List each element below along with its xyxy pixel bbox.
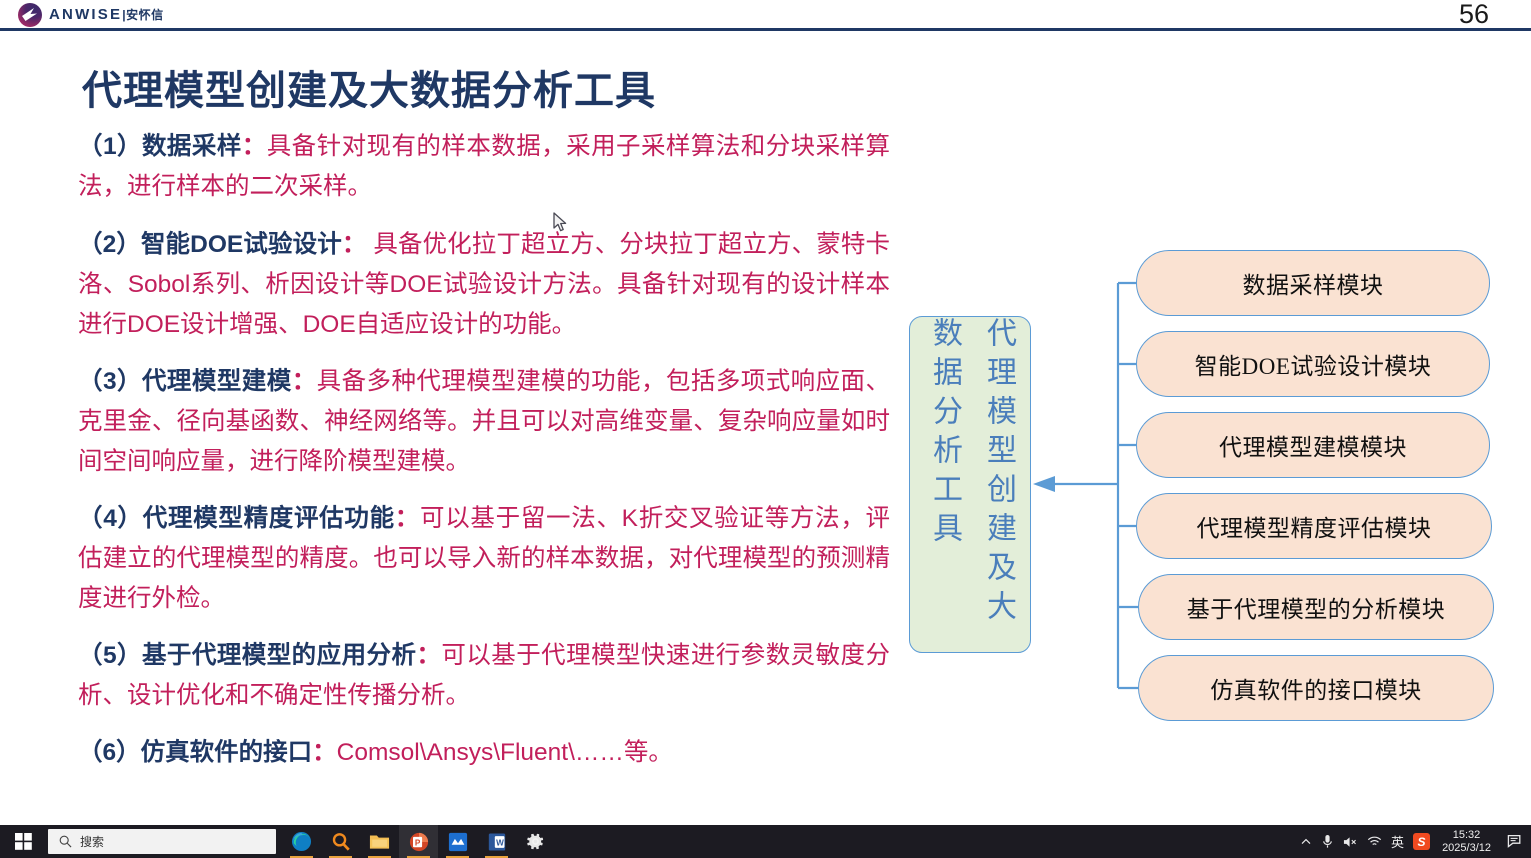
svg-text:W: W — [496, 838, 504, 847]
anwise-bird-logo-icon — [18, 3, 42, 27]
slide-screen: ANWISE|安怀信 56 代理模型创建及大数据分析工具 （1）数据采样：具备针… — [0, 0, 1531, 858]
slide-body: 代理模型创建及大数据分析工具 （1）数据采样：具备针对现有的样本数据，采用子采样… — [0, 31, 1531, 825]
paragraph-item: （6）仿真软件的接口：Comsol\Ansys\Fluent\……等。 — [78, 733, 890, 773]
taskbar-app-powerpoint[interactable]: P — [399, 825, 438, 858]
paragraph-item: （5）基于代理模型的应用分析：可以基于代理模型快速进行参数灵敏度分析、设计优化和… — [78, 636, 890, 716]
search-icon — [59, 835, 72, 848]
content-paragraph-list: （1）数据采样：具备针对现有的样本数据，采用子采样算法和分块采样算法，进行样本的… — [78, 127, 890, 773]
brand-latin: ANWISE — [49, 6, 122, 23]
paragraph-label: 代理模型精度评估功能 — [143, 505, 395, 532]
paragraph-index: （5） — [78, 642, 142, 669]
paragraph-index: （4） — [78, 505, 143, 532]
core-concept-label: 代理模型创建及大数据分析工具 — [910, 317, 1032, 654]
module-list: 数据采样模块 智能DOE试验设计模块 代理模型建模模块 代理模型精度评估模块 基… — [1136, 211, 1520, 731]
edge-icon — [291, 831, 312, 852]
paragraph-colon: ： — [292, 368, 317, 395]
paragraph-item: （3）代理模型建模：具备多种代理模型建模的功能，包括多项式响应面、克里金、径向基… — [78, 362, 890, 482]
module-label: 仿真软件的接口模块 — [1210, 671, 1422, 705]
clock-time: 15:32 — [1442, 829, 1491, 842]
taskbar-app-everything-search[interactable] — [321, 825, 360, 858]
ime-language-indicator[interactable]: 英 — [1391, 832, 1404, 851]
taskbar-search-box[interactable]: 搜索 — [48, 829, 276, 854]
paragraph-colon: ： — [242, 133, 267, 160]
paragraph-label: 基于代理模型的应用分析 — [142, 642, 416, 669]
taskbar-app-file-explorer[interactable] — [360, 825, 399, 858]
paragraph-index: （6） — [78, 739, 141, 766]
paragraph-item: （1）数据采样：具备针对现有的样本数据，采用子采样算法和分块采样算法，进行样本的… — [78, 127, 890, 207]
module-architecture-diagram: 代理模型创建及大数据分析工具 数据采样模块 智能DOE试验设计模块 代理模型建模… — [900, 211, 1520, 731]
module-box-doe-design[interactable]: 智能DOE试验设计模块 — [1136, 331, 1490, 397]
paragraph-item: （4）代理模型精度评估功能：可以基于留一法、K折交叉验证等方法，评估建立的代理模… — [78, 499, 890, 619]
slide-header: ANWISE|安怀信 56 — [0, 0, 1531, 31]
powerpoint-icon: P — [409, 832, 429, 852]
module-box-data-sampling[interactable]: 数据采样模块 — [1136, 250, 1490, 316]
paragraph-colon: ： — [416, 642, 441, 669]
volume-muted-icon[interactable] — [1343, 835, 1358, 849]
paragraph-index: （2） — [78, 231, 141, 258]
microphone-icon[interactable] — [1321, 834, 1334, 849]
paragraph-index: （3） — [78, 368, 142, 395]
paragraph-text: Comsol\Ansys\Fluent\……等。 — [337, 739, 673, 766]
core-concept-box: 代理模型创建及大数据分析工具 — [909, 316, 1031, 653]
taskbar-app-wps-blue[interactable] — [438, 825, 477, 858]
settings-gear-icon — [526, 832, 545, 851]
svg-text:P: P — [414, 838, 420, 847]
file-explorer-icon — [369, 832, 390, 851]
taskbar-app-settings[interactable] — [516, 825, 555, 858]
taskbar-app-word[interactable]: W — [477, 825, 516, 858]
paragraph-index: （1） — [78, 133, 142, 160]
taskbar-clock[interactable]: 15:32 2025/3/12 — [1439, 829, 1498, 855]
word-icon: W — [487, 832, 507, 852]
page-number: 56 — [1459, 0, 1489, 28]
paragraph-label: 代理模型建模 — [142, 368, 292, 395]
module-box-simulation-interface[interactable]: 仿真软件的接口模块 — [1138, 655, 1494, 721]
clock-date: 2025/3/12 — [1442, 842, 1491, 855]
brand-logo: ANWISE|安怀信 — [18, 3, 164, 27]
paragraph-item: （2）智能DOE试验设计： 具备优化拉丁超立方、分块拉丁超立方、蒙特卡洛、Sob… — [78, 225, 890, 345]
paragraph-label: 数据采样 — [142, 133, 242, 160]
paragraph-label: 仿真软件的接口 — [141, 739, 313, 766]
module-label: 数据采样模块 — [1243, 266, 1384, 300]
mouse-pointer-icon — [553, 212, 569, 239]
module-box-accuracy-evaluation[interactable]: 代理模型精度评估模块 — [1136, 493, 1492, 559]
taskbar-app-buttons: P W — [282, 825, 555, 858]
windows-start-icon[interactable] — [0, 825, 46, 858]
paragraph-colon: ： — [395, 505, 420, 532]
module-label: 智能DOE试验设计模块 — [1195, 347, 1432, 381]
paragraph-colon: ： — [312, 739, 337, 766]
paragraph-label: 智能DOE试验设计 — [141, 231, 342, 258]
system-tray: 英 S 15:32 2025/3/12 — [1300, 829, 1531, 855]
module-label: 代理模型精度评估模块 — [1197, 509, 1432, 543]
module-label: 基于代理模型的分析模块 — [1187, 590, 1446, 624]
wifi-icon[interactable] — [1367, 835, 1382, 848]
module-box-surrogate-analysis[interactable]: 基于代理模型的分析模块 — [1138, 574, 1494, 640]
chevron-up-icon[interactable] — [1300, 836, 1312, 848]
brand-cn: 安怀信 — [126, 8, 164, 22]
module-label: 代理模型建模模块 — [1219, 428, 1407, 462]
module-box-surrogate-modeling[interactable]: 代理模型建模模块 — [1136, 412, 1490, 478]
taskbar-app-edge[interactable] — [282, 825, 321, 858]
sogou-input-icon[interactable]: S — [1413, 833, 1430, 850]
wps-blue-icon — [448, 832, 468, 852]
notification-icon[interactable] — [1507, 834, 1523, 849]
paragraph-colon: ： — [342, 231, 367, 258]
taskbar-search-placeholder: 搜索 — [80, 833, 104, 850]
brand-name: ANWISE|安怀信 — [49, 3, 164, 27]
everything-search-icon — [331, 832, 351, 852]
page-title: 代理模型创建及大数据分析工具 — [82, 58, 656, 116]
windows-taskbar: 搜索 — [0, 825, 1531, 858]
